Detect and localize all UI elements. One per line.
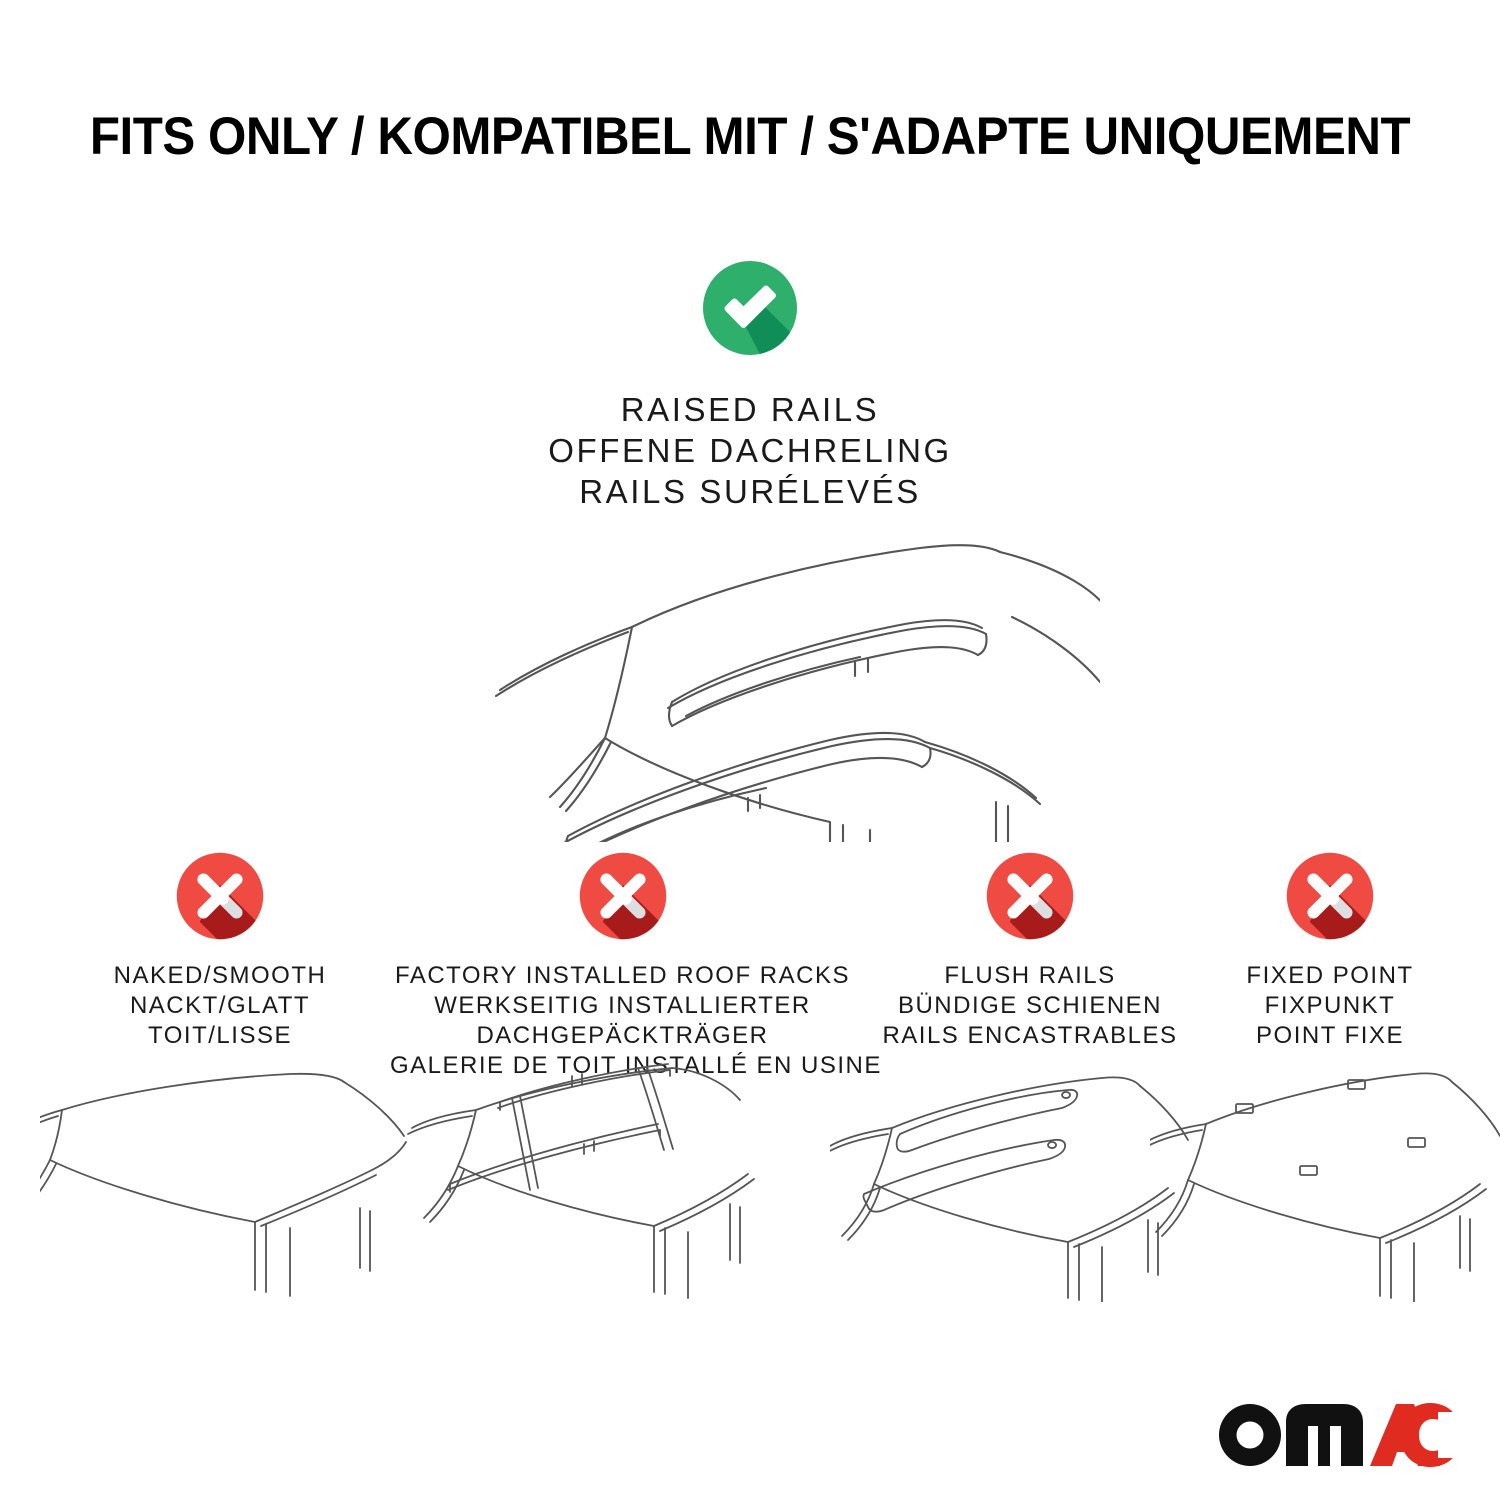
approved-labels: RAISED RAILS OFFENE DACHRELING RAILS SUR… (0, 389, 1500, 512)
reject-label-de-2: DACHGEPÄCKTRÄGER (390, 1021, 855, 1051)
fixed-point-roof-illustration (1150, 1062, 1500, 1302)
reject-label-fr: POINT FIXE (1190, 1021, 1470, 1051)
reject-label-fr: TOIT/LISSE (30, 1021, 410, 1051)
reject-label-de-1: WERKSEITIG INSTALLIERTER (390, 991, 855, 1021)
reject-column-factory-roof-racks: FACTORY INSTALLED ROOF RACKS WERKSEITIG … (390, 850, 855, 1081)
reject-column-naked-smooth: NAKED/SMOOTH NACKT/GLATT TOIT/LISSE (30, 850, 410, 1051)
factory-roof-racks-illustration (400, 1062, 770, 1302)
approved-label-de: OFFENE DACHRELING (0, 430, 1500, 471)
x-circle-icon (984, 850, 1076, 942)
x-circle-icon (577, 850, 669, 942)
reject-label-de: NACKT/GLATT (30, 991, 410, 1021)
reject-label-en: FLUSH RAILS (845, 961, 1215, 991)
approved-label-fr: RAILS SURÉLEVÉS (0, 471, 1500, 512)
reject-label-de: BÜNDIGE SCHIENEN (845, 991, 1215, 1021)
page-title: FITS ONLY / KOMPATIBEL MIT / S'ADAPTE UN… (53, 106, 1448, 167)
omac-logo (1214, 1394, 1464, 1472)
reject-label-en: NAKED/SMOOTH (30, 961, 410, 991)
reject-column-flush-rails: FLUSH RAILS BÜNDIGE SCHIENEN RAILS ENCAS… (845, 850, 1215, 1051)
reject-labels-fixed-point: FIXED POINT FIXPUNKT POINT FIXE (1190, 961, 1470, 1051)
reject-labels-flush-rails: FLUSH RAILS BÜNDIGE SCHIENEN RAILS ENCAS… (845, 961, 1215, 1051)
approved-label-en: RAISED RAILS (0, 389, 1500, 430)
reject-label-de: FIXPUNKT (1190, 991, 1470, 1021)
x-circle-icon (1284, 850, 1376, 942)
reject-column-fixed-point: FIXED POINT FIXPUNKT POINT FIXE (1190, 850, 1470, 1051)
fitment-compatibility-graphic: FITS ONLY / KOMPATIBEL MIT / S'ADAPTE UN… (0, 0, 1500, 1500)
reject-label-fr: RAILS ENCASTRABLES (845, 1021, 1215, 1051)
check-circle-icon (700, 258, 800, 358)
raised-rails-roof-illustration (400, 512, 1100, 842)
rejected-section: NAKED/SMOOTH NACKT/GLATT TOIT/LISSE (0, 850, 1500, 1060)
x-circle-icon (174, 850, 266, 942)
reject-label-en: FIXED POINT (1190, 961, 1470, 991)
reject-labels-naked-smooth: NAKED/SMOOTH NACKT/GLATT TOIT/LISSE (30, 961, 410, 1051)
rejected-illustration-row (0, 1062, 1500, 1302)
naked-smooth-roof-illustration (40, 1062, 410, 1302)
approved-section: RAISED RAILS OFFENE DACHRELING RAILS SUR… (0, 258, 1500, 512)
reject-label-en: FACTORY INSTALLED ROOF RACKS (390, 961, 855, 991)
flush-rails-roof-illustration (830, 1062, 1200, 1302)
